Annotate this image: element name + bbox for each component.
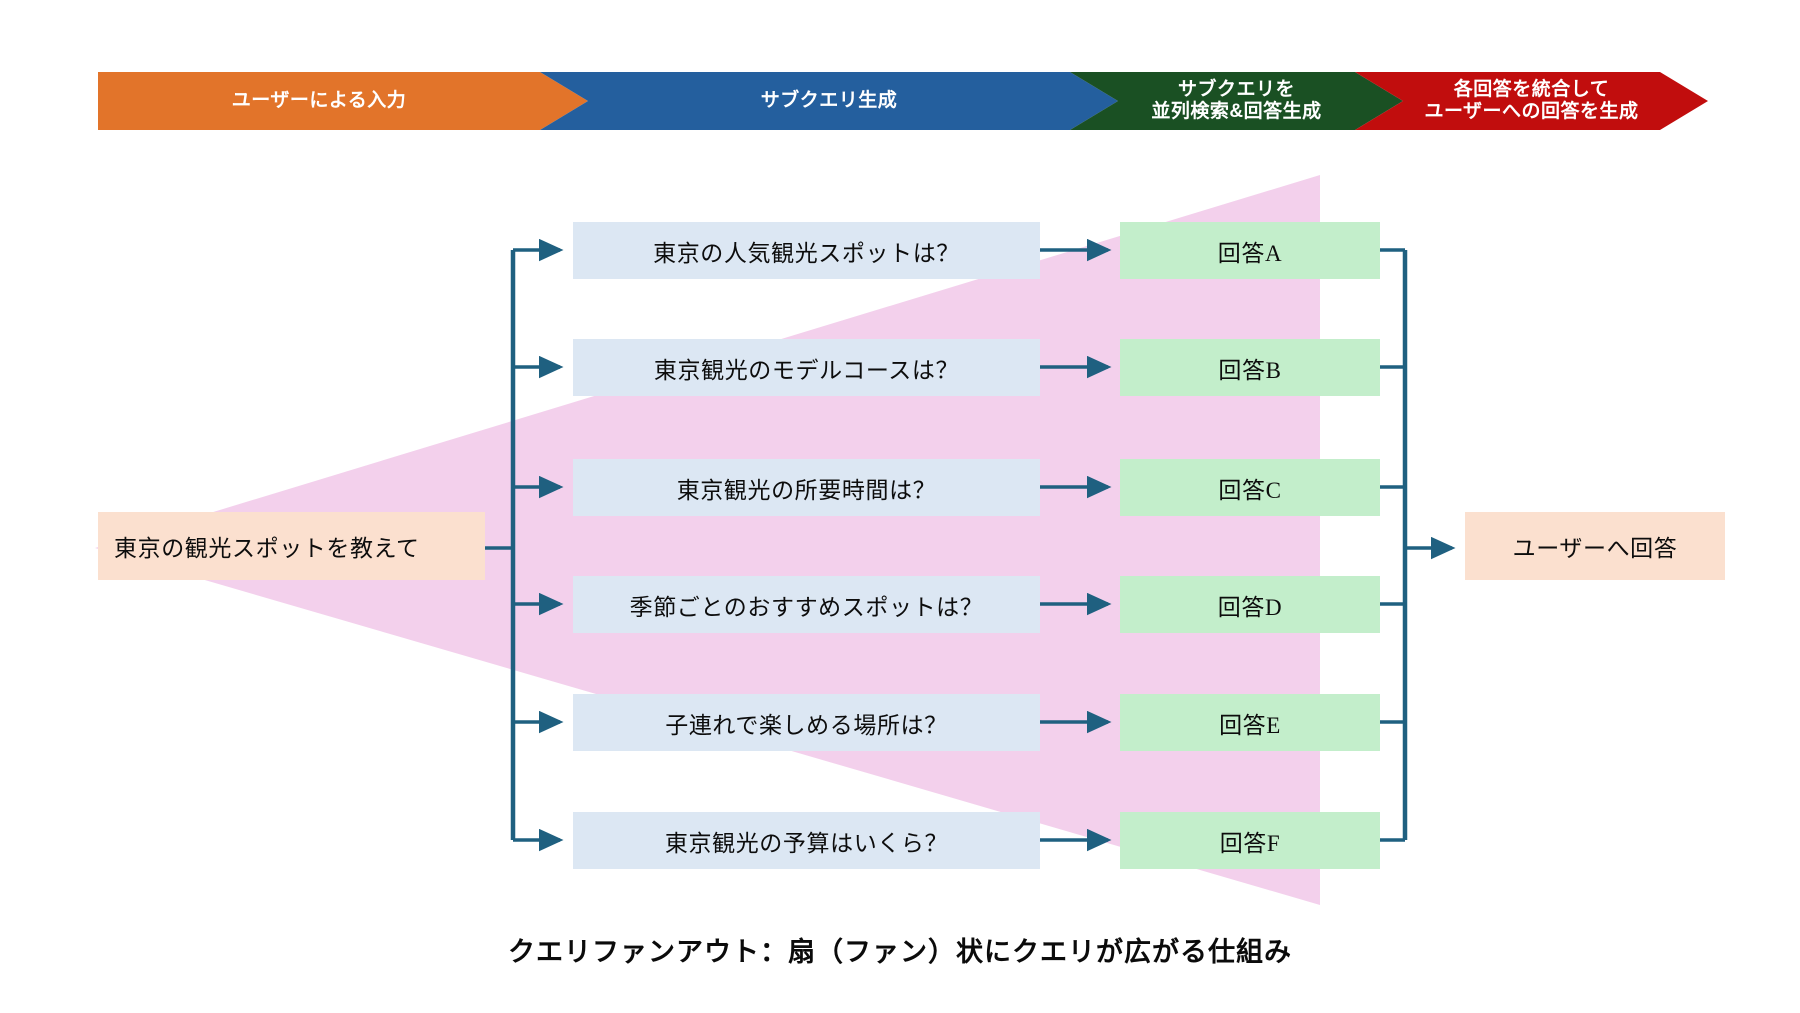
- diagram-caption-text: クエリファンアウト：扇（ファン）状にクエリが広がる仕組み: [508, 937, 1292, 967]
- answer-box-3[interactable]: 回答C: [1120, 459, 1380, 516]
- subquery-box-1[interactable]: 東京の人気観光スポットは？: [573, 222, 1040, 279]
- user-input-label: 東京の観光スポットを教えて: [114, 529, 420, 563]
- user-input-box[interactable]: 東京の観光スポットを教えて: [98, 512, 485, 580]
- subquery-label-5: 子連れで楽しめる場所は？: [665, 706, 948, 740]
- answer-label-4: 回答D: [1218, 588, 1282, 622]
- answer-label-6: 回答F: [1220, 824, 1281, 858]
- subquery-box-5[interactable]: 子連れで楽しめる場所は？: [573, 694, 1040, 751]
- subquery-label-4: 季節ごとのおすすめスポットは？: [630, 588, 984, 622]
- answer-label-5: 回答E: [1219, 706, 1281, 740]
- subquery-box-4[interactable]: 季節ごとのおすすめスポットは？: [573, 576, 1040, 633]
- answer-box-2[interactable]: 回答B: [1120, 339, 1380, 396]
- diagram-caption: クエリファンアウト：扇（ファン）状にクエリが広がる仕組み: [0, 930, 1800, 969]
- answer-label-1: 回答A: [1218, 234, 1282, 268]
- subquery-box-2[interactable]: 東京観光のモデルコースは？: [573, 339, 1040, 396]
- answer-box-6[interactable]: 回答F: [1120, 812, 1380, 869]
- answer-box-1[interactable]: 回答A: [1120, 222, 1380, 279]
- answer-label-3: 回答C: [1218, 471, 1281, 505]
- subquery-label-6: 東京観光の予算はいくら？: [665, 824, 948, 858]
- answer-label-2: 回答B: [1218, 351, 1281, 385]
- answer-box-5[interactable]: 回答E: [1120, 694, 1380, 751]
- subquery-label-3: 東京観光の所要時間は？: [677, 471, 937, 505]
- final-output-label: ユーザーへ回答: [1513, 529, 1678, 563]
- subquery-box-3[interactable]: 東京観光の所要時間は？: [573, 459, 1040, 516]
- subquery-label-2: 東京観光のモデルコースは？: [654, 351, 959, 385]
- diagram-canvas: ユーザーによる入力 サブクエリ生成 サブクエリを 並列検索&回答生成 各回答を統…: [0, 0, 1800, 1013]
- final-output-box[interactable]: ユーザーへ回答: [1465, 512, 1725, 580]
- subquery-box-6[interactable]: 東京観光の予算はいくら？: [573, 812, 1040, 869]
- subquery-label-1: 東京の人気観光スポットは？: [653, 234, 960, 268]
- answer-box-4[interactable]: 回答D: [1120, 576, 1380, 633]
